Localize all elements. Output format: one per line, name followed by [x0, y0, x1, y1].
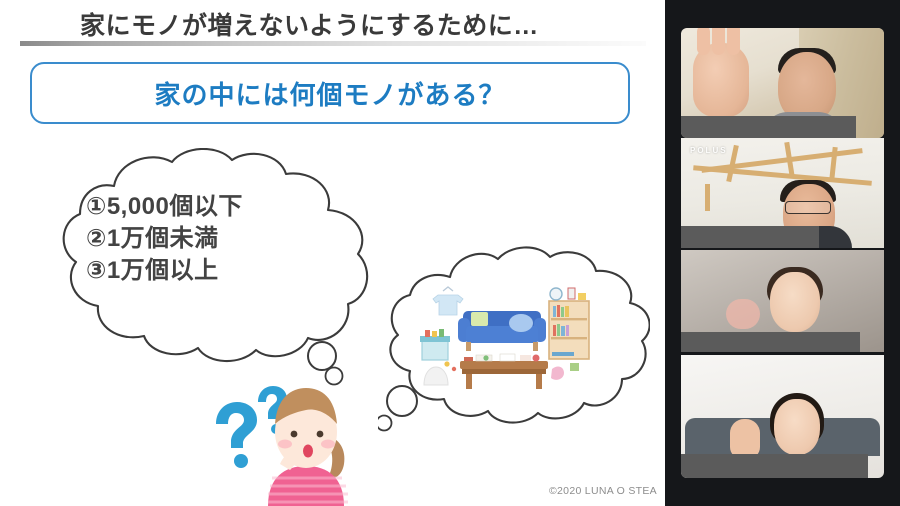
eye-left [291, 431, 298, 438]
shirt-on-hanger-icon [433, 287, 463, 315]
mouth [303, 445, 313, 458]
blush-left [278, 440, 292, 449]
question-box: 家の中には何個モノがある？ [30, 62, 630, 124]
slide-with-video-panel: 家にモノが増えないようにするために… 家の中には何個モノがある？ ①5,000個… [0, 0, 900, 506]
post [705, 184, 710, 210]
face [770, 272, 820, 332]
question-box-text: 家の中には何個モノがある？ [154, 75, 505, 112]
thinking-woman-illustration [206, 378, 356, 506]
coffee-table-icon [460, 354, 548, 389]
title-divider [20, 41, 646, 46]
question-mark-icon-large [216, 402, 257, 468]
video-tile-participant-2[interactable]: POLUS [681, 138, 884, 248]
presentation-slide: 家にモノが増えないようにするために… 家の中には何個モノがある？ ①5,000個… [0, 0, 665, 506]
eyeglasses [785, 201, 831, 214]
participant-name-redacted-1 [681, 116, 856, 138]
option-3: ③1万個以上 [86, 255, 366, 287]
raised-hand [693, 43, 749, 117]
participant-name-redacted-4 [681, 454, 868, 478]
video-tile-participant-1[interactable] [681, 28, 884, 138]
polus-logo: POLUS [690, 146, 728, 155]
video-tile-participant-3[interactable] [681, 250, 884, 352]
option-1: ①5,000個以下 [86, 191, 366, 223]
beanbag-icon [424, 367, 448, 385]
eye-right [317, 431, 324, 438]
page-title: 家にモノが増えないようにするために… [80, 6, 539, 42]
raised-hand [726, 299, 760, 329]
toy-box-icon [420, 329, 456, 371]
finger [697, 28, 710, 55]
participant-name-redacted-3 [681, 332, 860, 352]
plush-toy-icon [551, 366, 564, 379]
raised-hand [730, 419, 760, 459]
ceiling-beam [693, 165, 871, 186]
sofa-icon [458, 311, 546, 351]
living-room-illustration [416, 281, 602, 399]
bookshelf-icon [549, 288, 589, 359]
participant-name-redacted-2 [681, 226, 819, 248]
copyright-text: ©2020 LUNA O STEA [549, 485, 657, 497]
video-call-panel: POLUS [665, 0, 900, 506]
finger [727, 28, 740, 55]
finger [712, 28, 725, 55]
video-tile-participant-4[interactable] [681, 355, 884, 478]
answer-options: ①5,000個以下 ②1万個未満 ③1万個以上 [86, 191, 366, 287]
option-2: ②1万個未満 [86, 223, 366, 255]
green-toy-icon [570, 363, 579, 371]
face [774, 399, 820, 455]
blush-right [321, 440, 335, 449]
